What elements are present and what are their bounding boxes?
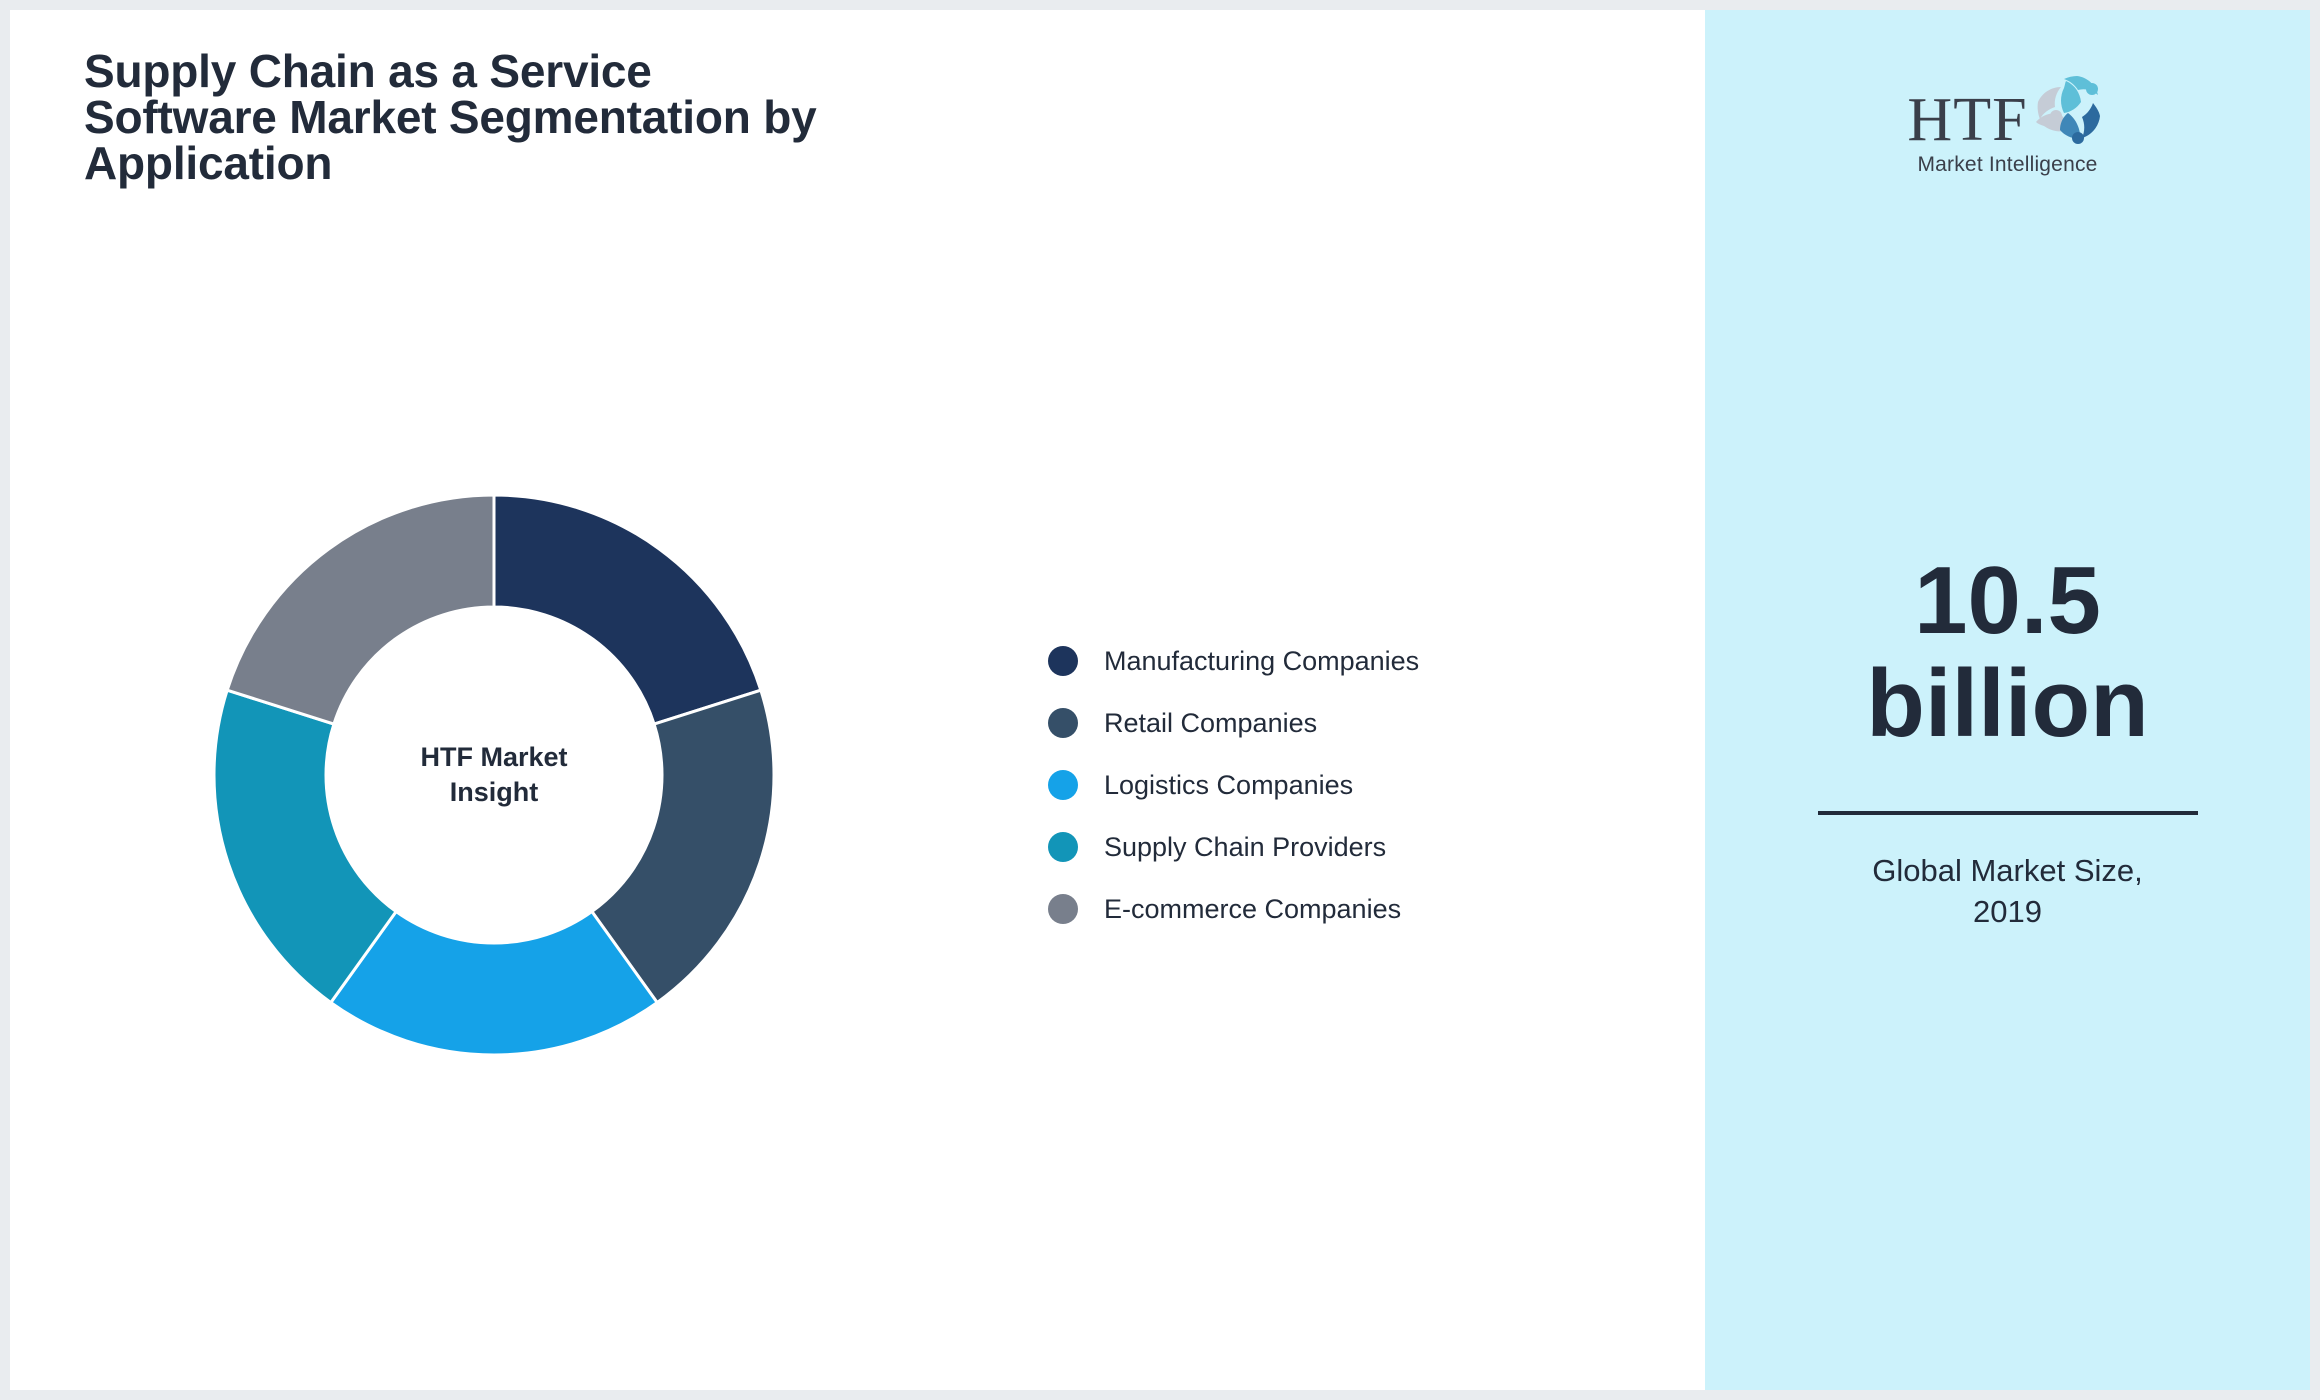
legend-item[interactable]: E-commerce Companies — [1048, 878, 1608, 940]
legend-swatch-icon — [1048, 646, 1078, 676]
logo-mark: HTF — [1907, 72, 2107, 149]
chart-legend: Manufacturing CompaniesRetail CompaniesL… — [1048, 630, 1608, 940]
legend-item[interactable]: Retail Companies — [1048, 692, 1608, 754]
brand-logo: HTF Market Intelligence — [1705, 72, 2310, 177]
kpi-divider — [1818, 811, 2198, 815]
legend-item-label: Logistics Companies — [1104, 770, 1353, 801]
donut-chart: HTF Market Insight — [214, 495, 774, 1055]
kpi-block: 10.5 billion Global Market Size, 2019 — [1705, 550, 2310, 933]
three-dolphin-swirl-icon — [2030, 72, 2108, 149]
donut-chart-svg — [214, 495, 774, 1055]
kpi-value: 10.5 billion — [1705, 550, 2310, 755]
legend-item[interactable]: Logistics Companies — [1048, 754, 1608, 816]
logo-letters: HTF — [1907, 92, 2027, 149]
kpi-value-line-2: billion — [1745, 653, 2270, 756]
page-title-line-1: Supply Chain as a Service — [84, 48, 1084, 94]
legend-item-label: Retail Companies — [1104, 708, 1317, 739]
infographic-canvas: Supply Chain as a Service Software Marke… — [0, 0, 2320, 1400]
kpi-panel: HTF Market Intelligence — [1705, 10, 2310, 1390]
page-title: Supply Chain as a Service Software Marke… — [84, 48, 1084, 186]
legend-item-label: Manufacturing Companies — [1104, 646, 1419, 677]
chart-panel: Supply Chain as a Service Software Marke… — [10, 10, 1715, 1390]
donut-segment-group — [214, 495, 774, 1055]
legend-item-label: Supply Chain Providers — [1104, 832, 1386, 863]
kpi-value-line-1: 10.5 — [1745, 550, 2270, 653]
page-title-line-3: Application — [84, 140, 1084, 186]
donut-segment[interactable] — [227, 495, 494, 724]
donut-segment[interactable] — [494, 495, 761, 724]
legend-swatch-icon — [1048, 832, 1078, 862]
logo-subtitle: Market Intelligence — [1917, 153, 2097, 177]
legend-swatch-icon — [1048, 708, 1078, 738]
legend-item[interactable]: Manufacturing Companies — [1048, 630, 1608, 692]
legend-item[interactable]: Supply Chain Providers — [1048, 816, 1608, 878]
legend-swatch-icon — [1048, 770, 1078, 800]
kpi-caption: Global Market Size, 2019 — [1843, 851, 2173, 933]
legend-item-label: E-commerce Companies — [1104, 894, 1401, 925]
legend-swatch-icon — [1048, 894, 1078, 924]
page-title-line-2: Software Market Segmentation by — [84, 94, 1084, 140]
